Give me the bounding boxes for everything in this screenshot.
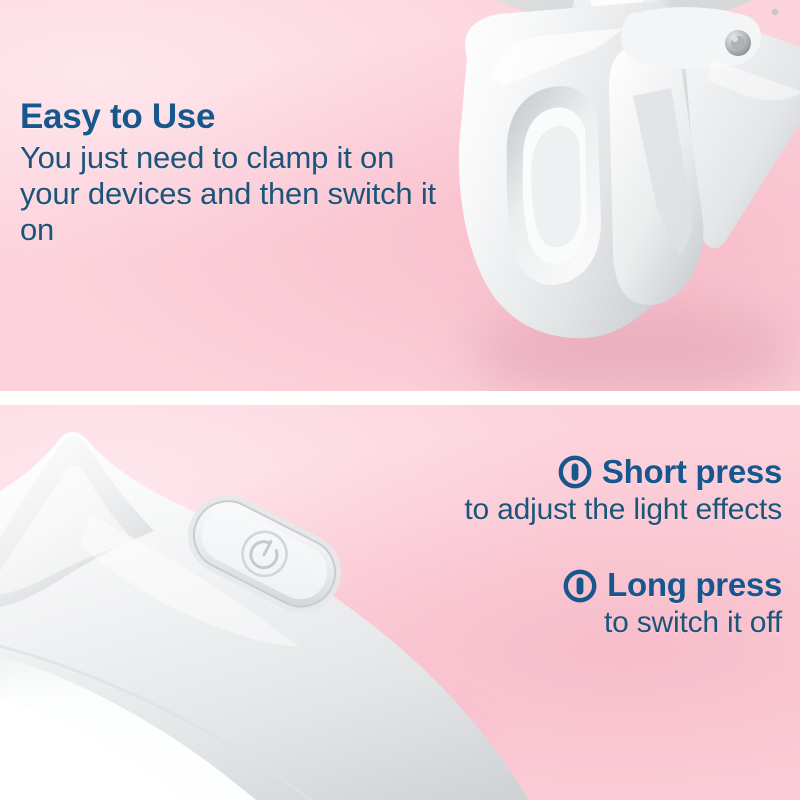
press-instructions-list: Short press to adjust the light effects … bbox=[282, 455, 782, 639]
press-title: Long press bbox=[607, 568, 782, 603]
clip-light-clamp-image bbox=[395, 0, 800, 391]
press-subtitle: to switch it off bbox=[282, 606, 782, 640]
easy-to-use-text-block: Easy to Use You just need to clamp it on… bbox=[20, 98, 450, 249]
hinge-vent-hole bbox=[772, 9, 778, 15]
power-button-icon bbox=[558, 455, 592, 489]
press-subtitle: to adjust the light effects bbox=[282, 493, 782, 527]
page-title: Easy to Use bbox=[20, 98, 450, 136]
press-group-short: Short press to adjust the light effects bbox=[282, 455, 782, 526]
product-feature-poster: Easy to Use You just need to clamp it on… bbox=[0, 0, 800, 800]
page-subtitle: You just need to clamp it on your device… bbox=[20, 140, 450, 249]
hinge-pin-icon bbox=[725, 30, 751, 56]
clip-cutout-window bbox=[507, 86, 601, 285]
press-title: Short press bbox=[602, 455, 782, 490]
panel-press-instructions: Short press to adjust the light effects … bbox=[0, 405, 800, 800]
power-button-icon bbox=[563, 569, 597, 603]
press-group-long: Long press to switch it off bbox=[282, 568, 782, 639]
panel-divider bbox=[0, 391, 800, 405]
